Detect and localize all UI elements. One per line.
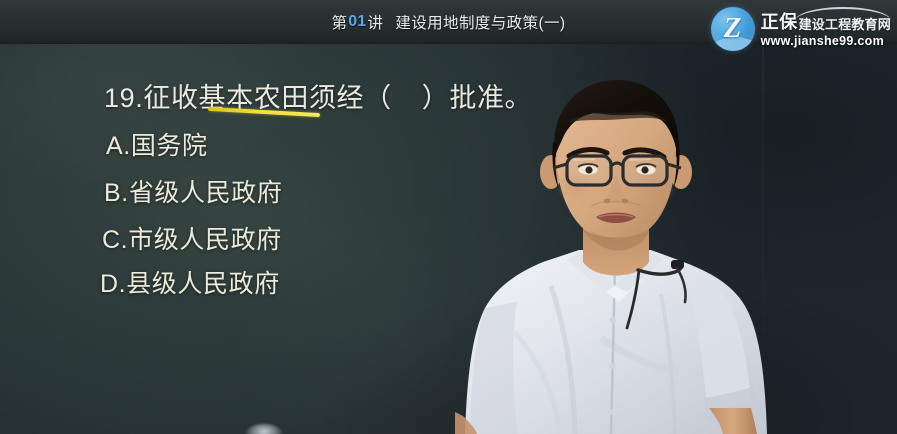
video-player[interactable]: 19.征收基本农田须经（）批准。 A.国务院 B.省级人民政府 C.市级人民政府…: [0, 0, 897, 434]
lecture-title-main: 建设用地制度与政策(一): [395, 11, 565, 33]
lecture-number: 01: [347, 13, 367, 31]
lecture-title-prefix: 第: [332, 11, 348, 33]
brand-url[interactable]: www.jianshe99.com: [761, 31, 891, 48]
brand-text-block: 正保 建设工程教育网 www.jianshe99.com: [761, 10, 891, 48]
instructor-figure: [455, 80, 785, 434]
brand-arc-decoration: [795, 7, 891, 21]
zhengbao-logo-icon: Z: [711, 7, 755, 51]
brand-name-main: 正保: [761, 13, 798, 31]
instructor-shirt: [465, 250, 767, 434]
brand-name-row: 正保 建设工程教育网: [761, 11, 891, 31]
podium-light-reflection: [246, 424, 282, 434]
lecture-title-unit: 讲: [367, 11, 383, 33]
site-watermark[interactable]: Z 正保 建设工程教育网 www.jianshe99.com: [711, 4, 891, 54]
logo-z-letter: Z: [711, 7, 755, 50]
